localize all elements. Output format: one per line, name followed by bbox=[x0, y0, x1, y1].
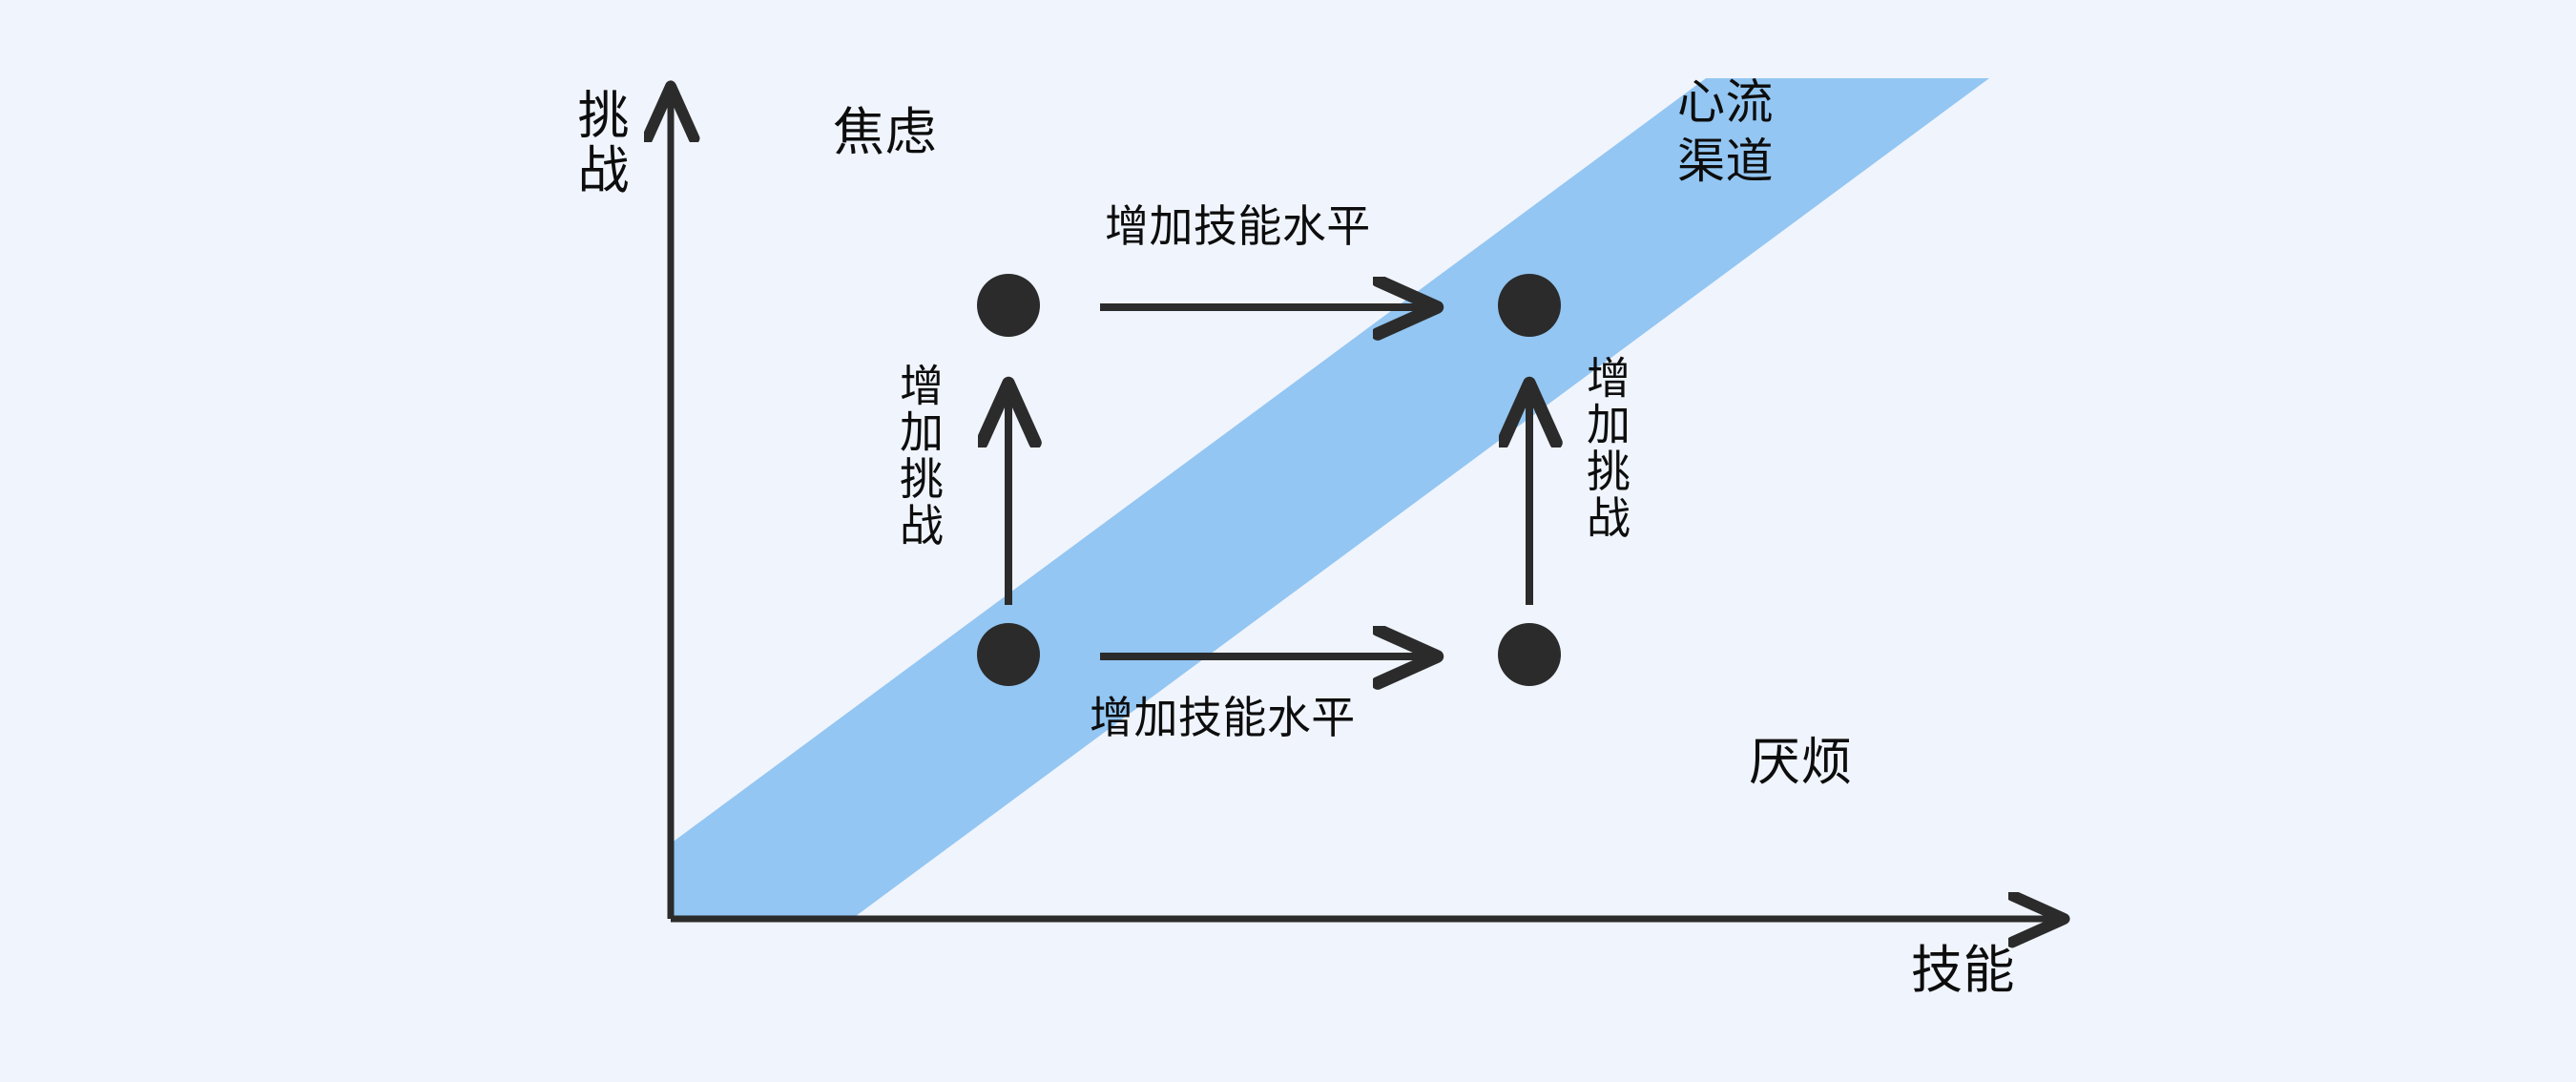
dot-bottom-left bbox=[977, 623, 1040, 686]
dot-bottom-right bbox=[1498, 623, 1561, 686]
skill-arrow-top-label: 增加技能水平 bbox=[1105, 203, 1371, 251]
y-axis-label: 挑战 bbox=[572, 88, 624, 197]
flow-channel-label-line1: 心流 bbox=[1677, 76, 1774, 128]
dot-top-right bbox=[1498, 274, 1561, 337]
flow-channel-label-line2: 渠道 bbox=[1677, 135, 1774, 187]
skill-arrow-bottom-label: 增加技能水平 bbox=[1090, 695, 1356, 742]
challenge-arrow-left-label: 增加挑战 bbox=[897, 363, 941, 549]
flow-channel-diagram bbox=[0, 0, 2576, 1082]
dot-top-left bbox=[977, 274, 1040, 337]
challenge-arrow-right-label: 增加挑战 bbox=[1584, 355, 1628, 541]
zone-label-anxiety: 焦虑 bbox=[833, 105, 937, 160]
x-axis-label: 技能 bbox=[1911, 943, 2015, 998]
diagram-canvas: 挑战 技能 焦虑 厌烦 心流 渠道 增加技能水平 增加技能水平 增加挑战 增加挑… bbox=[0, 0, 2576, 1082]
flow-channel-label: 心流 渠道 bbox=[1677, 76, 1774, 187]
zone-label-boredom: 厌烦 bbox=[1749, 735, 1853, 790]
